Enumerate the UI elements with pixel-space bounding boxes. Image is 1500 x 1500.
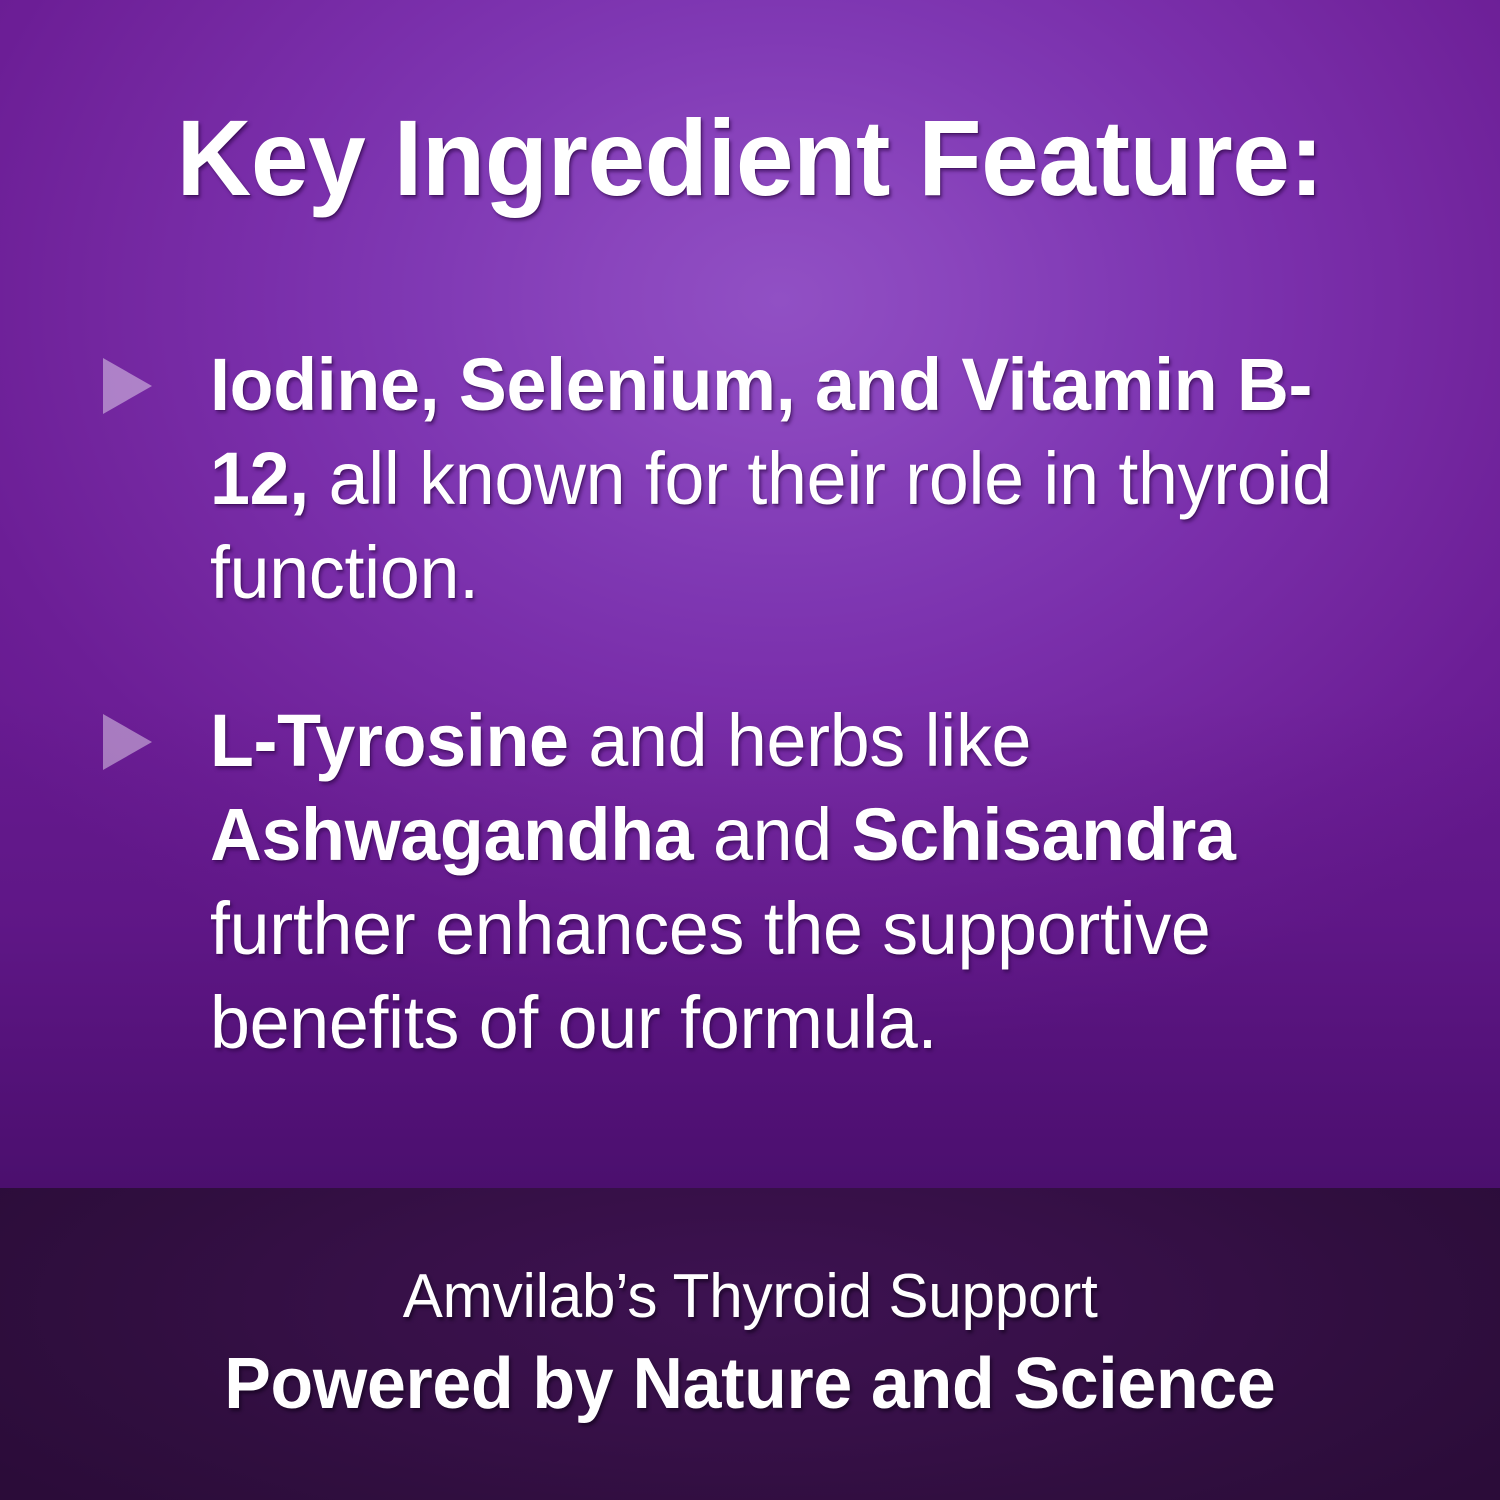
list-item: L-Tyrosine and herbs like Ashwagandha an… xyxy=(100,694,1420,1070)
poster-content: Key Ingredient Feature: Iodine, Selenium… xyxy=(0,0,1500,1188)
footer-band: Amvilab’s Thyroid Support Powered by Nat… xyxy=(0,1188,1500,1500)
bullet-text-1: Iodine, Selenium, and Vitamin B-12, all … xyxy=(210,338,1384,620)
triangle-right-icon xyxy=(103,358,152,414)
brand-tagline: Amvilab’s Thyroid Support xyxy=(403,1261,1098,1333)
page-title: Key Ingredient Feature: xyxy=(30,104,1470,212)
bullet-list: Iodine, Selenium, and Vitamin B-12, all … xyxy=(100,338,1420,1070)
list-item: Iodine, Selenium, and Vitamin B-12, all … xyxy=(100,338,1420,620)
promo-poster: Key Ingredient Feature: Iodine, Selenium… xyxy=(0,0,1500,1500)
triangle-right-icon xyxy=(103,714,152,770)
bullet-text-2: L-Tyrosine and herbs like Ashwagandha an… xyxy=(210,694,1384,1070)
brand-slogan: Powered by Nature and Science xyxy=(224,1341,1275,1427)
